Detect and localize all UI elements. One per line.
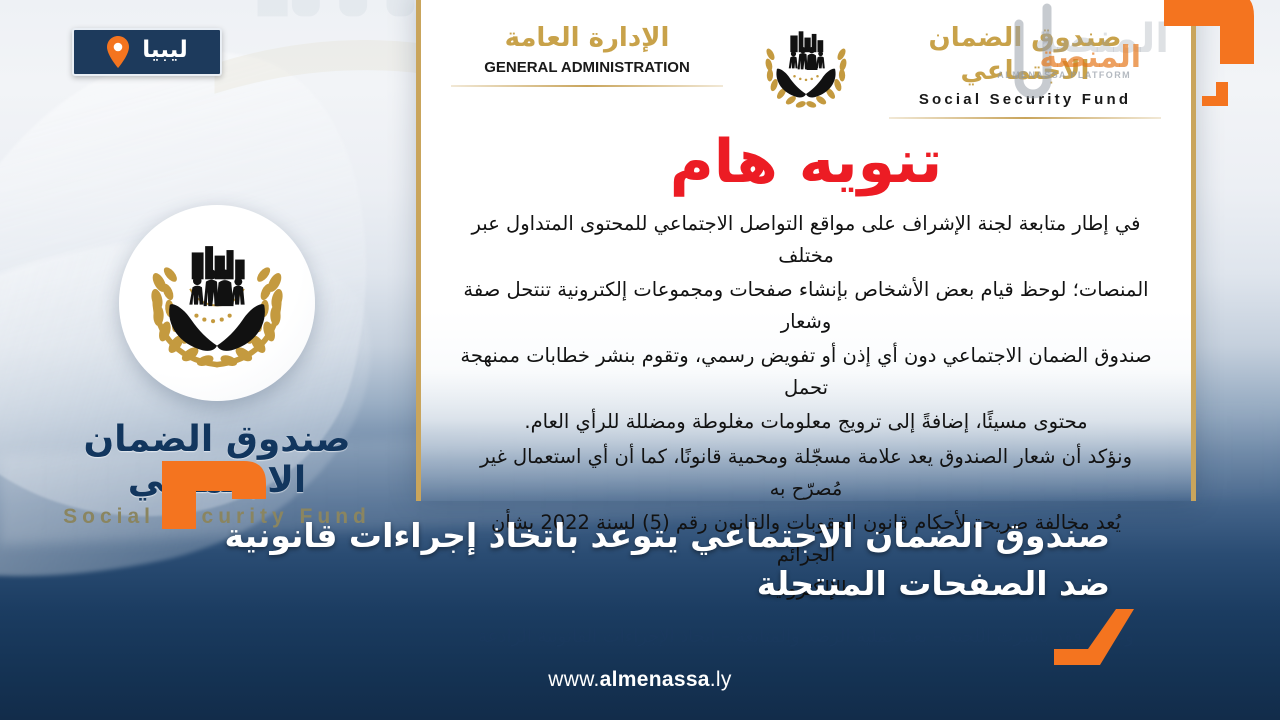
notice-paragraph: ونؤكد أن شعار الصندوق يعد علامة مسجّلة و…: [459, 441, 1153, 504]
document-header-logo: [751, 22, 861, 118]
notice-paragraph: المنصات؛ لوحظ قيام بعض الأشخاص بإنشاء صف…: [459, 274, 1153, 337]
footer-url-prefix: www.: [548, 668, 599, 691]
notice-document: الإدارة العامة GENERAL ADMINISTRATION: [416, 0, 1196, 501]
general-administration-arabic: الإدارة العامة: [451, 22, 723, 55]
notice-paragraph: محتوى مسيئًا، إضافةً إلى ترويج معلومات م…: [459, 406, 1153, 438]
footer-url-name: almenassa: [600, 668, 710, 691]
notice-paragraph: في إطار متابعة لجنة الإشراف على مواقع ال…: [459, 208, 1153, 271]
social-security-fund-logo: [138, 224, 296, 382]
document-header-left: الإدارة العامة GENERAL ADMINISTRATION: [451, 22, 723, 87]
notice-title: تنويه هام: [443, 131, 1169, 194]
document-header: الإدارة العامة GENERAL ADMINISTRATION: [443, 0, 1169, 119]
document-header-right: صندوق الضمان الاجتماعي Social Security F…: [889, 22, 1161, 119]
notice-paragraph: صندوق الضمان الاجتماعي دون أي إذن أو تفو…: [459, 340, 1153, 403]
poster-canvas: ليبيا: [0, 0, 1280, 720]
social-security-fund-seal: [752, 24, 860, 118]
ssf-header-english: Social Security Fund: [889, 91, 1161, 108]
quote-bracket-corner-icon: [1158, 0, 1266, 110]
location-badge-label: ليبيا: [142, 39, 187, 65]
map-pin-icon: [106, 36, 130, 68]
ssf-header-arabic: صندوق الضمان الاجتماعي: [889, 22, 1161, 87]
footer-url-suffix: .ly: [710, 668, 732, 691]
poster-headline: صندوق الضمان الاجتماعي يتوعد باتخاذ إجرا…: [170, 512, 1110, 608]
header-rule-right: [889, 117, 1161, 119]
general-administration-english: GENERAL ADMINISTRATION: [451, 59, 723, 76]
brand-logo-circle: [119, 205, 315, 401]
footer-url: www.almenassa.ly: [0, 668, 1280, 692]
location-badge: ليبيا: [72, 28, 222, 76]
header-rule-left: [451, 85, 723, 87]
quote-bracket-close-icon: [1050, 607, 1142, 669]
